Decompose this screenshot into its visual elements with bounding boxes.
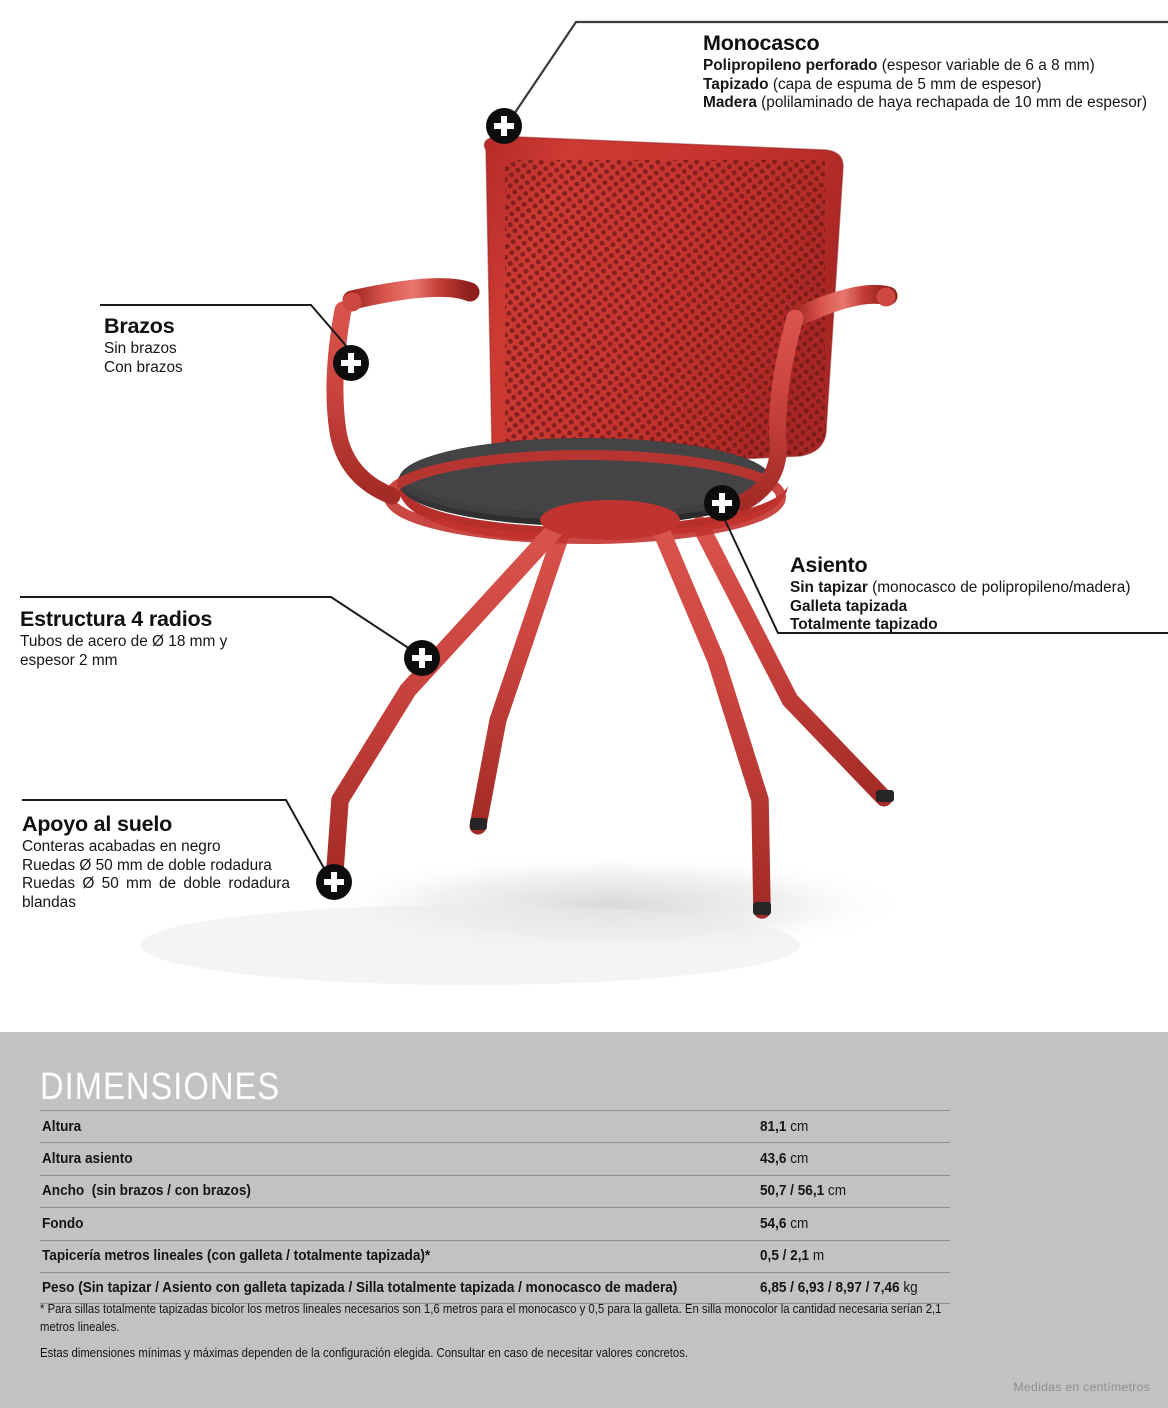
callout-line-rest: (capa de espuma de 5 mm de espesor) [769, 76, 1042, 93]
dimension-unit: cm [828, 1183, 846, 1199]
plus-icon [719, 493, 725, 513]
callout-brazos: Brazos Sin brazos Con brazos [104, 314, 183, 377]
measurement-units-caption: Medidas en centímetros [1013, 1380, 1150, 1394]
callout-title: Monocasco [703, 31, 1147, 55]
callout-line: Madera (polilaminado de haya rechapada d… [703, 94, 1147, 112]
callout-line: Con brazos [104, 359, 183, 377]
callout-estructura: Estructura 4 radios Tubos de acero de Ø … [20, 607, 227, 670]
callout-title: Brazos [104, 314, 183, 338]
dimension-label: Ancho (sin brazos / con brazos) [42, 1183, 251, 1199]
dimension-label: Peso (Sin tapizar / Asiento con galleta … [42, 1280, 677, 1296]
callout-line-bold: Polipropileno perforado [703, 57, 877, 74]
plus-icon [348, 353, 354, 373]
callout-line-rest: (espesor variable de 6 a 8 mm) [877, 57, 1094, 74]
callout-title: Asiento [790, 553, 1130, 577]
callout-title: Apoyo al suelo [22, 812, 290, 836]
table-row: Altura 81,1 cm [40, 1110, 950, 1142]
table-row: Fondo 54,6 cm [40, 1207, 950, 1239]
dimension-unit: cm [790, 1119, 808, 1135]
callout-line: espesor 2 mm [20, 652, 227, 670]
callout-marker-estructura[interactable] [404, 640, 440, 676]
dimensions-table: Altura 81,1 cm Altura asiento 43,6 cm An… [40, 1110, 950, 1304]
dimension-number: 81,1 [760, 1119, 786, 1135]
callout-line: blandas [22, 894, 290, 912]
footnote-asterisk: * Para sillas totalmente tapizadas bicol… [40, 1300, 960, 1336]
callout-line-bold: Sin tapizar [790, 579, 868, 596]
callout-marker-brazos[interactable] [333, 345, 369, 381]
callout-line-bold: Galleta tapizada [790, 598, 907, 615]
callout-line-rest: (monocasco de polipropileno/madera) [868, 579, 1131, 596]
dimension-number: 0,5 / 2,1 [760, 1248, 809, 1264]
callout-marker-monocasco[interactable] [486, 108, 522, 144]
dimension-number: 50,7 / 56,1 [760, 1183, 824, 1199]
dimension-label: Altura asiento [42, 1151, 133, 1167]
callout-line: Ruedas Ø 50 mm de doble rodadura [22, 857, 290, 875]
callout-line: Sin brazos [104, 340, 183, 358]
callout-line-rest: (polilaminado de haya rechapada de 10 mm… [757, 94, 1147, 111]
table-row: Ancho (sin brazos / con brazos) 50,7 / 5… [40, 1175, 950, 1207]
dimension-value: 54,6 cm [760, 1216, 808, 1232]
dimensions-notes: * Para sillas totalmente tapizadas bicol… [40, 1300, 960, 1369]
callout-line: Ruedas Ø 50 mm de doble rodadura [22, 875, 290, 893]
dimension-unit: m [813, 1248, 824, 1264]
dimension-value: 81,1 cm [760, 1119, 808, 1135]
dimension-value: 6,85 / 6,93 / 8,97 / 7,46 kg [760, 1280, 918, 1296]
dimension-value: 43,6 cm [760, 1151, 808, 1167]
dimension-unit: cm [790, 1151, 808, 1167]
dimension-number: 43,6 [760, 1151, 786, 1167]
dimension-unit: cm [790, 1216, 808, 1232]
callout-line: Tapizado (capa de espuma de 5 mm de espe… [703, 76, 1147, 94]
callout-line-bold: Tapizado [703, 76, 769, 93]
dimension-label: Fondo [42, 1216, 83, 1232]
dimension-label: Altura [42, 1119, 81, 1135]
callout-marker-asiento[interactable] [704, 485, 740, 521]
plus-icon [501, 116, 507, 136]
callout-line: Totalmente tapizado [790, 616, 1130, 634]
callout-asiento: Asiento Sin tapizar (monocasco de polipr… [790, 553, 1130, 635]
callout-line: Tubos de acero de Ø 18 mm y [20, 633, 227, 651]
table-row: Altura asiento 43,6 cm [40, 1142, 950, 1174]
product-diagram: Monocasco Polipropileno perforado (espes… [0, 0, 1168, 1032]
callout-title: Estructura 4 radios [20, 607, 227, 631]
footnote-configuration: Estas dimensiones mínimas y máximas depe… [40, 1344, 960, 1362]
callout-line-bold: Totalmente tapizado [790, 616, 938, 633]
dimension-unit: kg [903, 1280, 917, 1296]
callout-monocasco: Monocasco Polipropileno perforado (espes… [703, 31, 1147, 113]
dimension-number: 54,6 [760, 1216, 786, 1232]
callout-line: Conteras acabadas en negro [22, 838, 290, 856]
plus-icon [419, 648, 425, 668]
table-row: Tapicería metros lineales (con galleta /… [40, 1240, 950, 1272]
callout-line: Galleta tapizada [790, 598, 1130, 616]
dimension-value: 50,7 / 56,1 cm [760, 1183, 846, 1199]
callout-line: Polipropileno perforado (espesor variabl… [703, 57, 1147, 75]
callout-line-bold: Madera [703, 94, 757, 111]
callout-marker-apoyo[interactable] [316, 864, 352, 900]
plus-icon [331, 872, 337, 892]
dimension-value: 0,5 / 2,1 m [760, 1248, 824, 1264]
callout-line: Sin tapizar (monocasco de polipropileno/… [790, 579, 1130, 597]
callout-apoyo: Apoyo al suelo Conteras acabadas en negr… [22, 812, 290, 912]
dimension-label: Tapicería metros lineales (con galleta /… [42, 1248, 430, 1264]
dimensions-heading: DIMENSIONES [40, 1066, 280, 1109]
dimension-number: 6,85 / 6,93 / 8,97 / 7,46 [760, 1280, 900, 1296]
